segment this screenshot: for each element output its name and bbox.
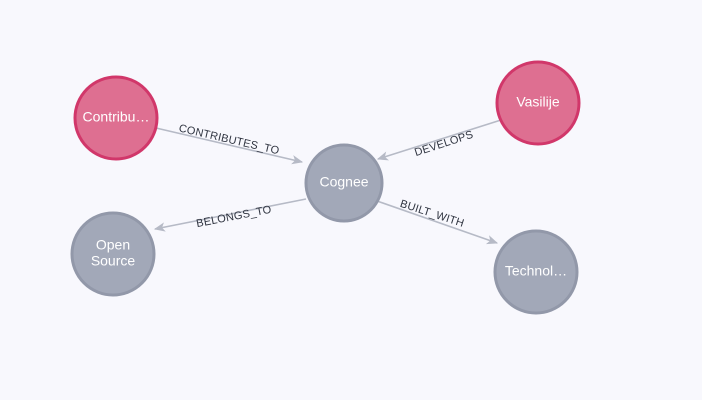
edge-label-built-with: BUILT_WITH: [399, 198, 466, 230]
edge-label-contributes-to: CONTRIBUTES_TO: [178, 122, 281, 157]
node-vasilije[interactable]: Vasilije: [497, 62, 579, 144]
node-contributor[interactable]: Contribu…: [75, 77, 157, 159]
edge-label-develops: DEVELOPS: [413, 129, 475, 159]
node-cognee[interactable]: Cognee: [306, 145, 382, 221]
node-circle-technology[interactable]: [495, 231, 577, 313]
edge-built-with[interactable]: [377, 201, 497, 243]
node-circle-contributor[interactable]: [75, 77, 157, 159]
node-open-source[interactable]: OpenSource: [72, 213, 154, 295]
nodes-layer: Contribu…VasilijeCogneeOpenSourceTechnol…: [72, 62, 579, 313]
edge-label-belongs-to: BELONGS_TO: [195, 204, 273, 230]
graph-visualization[interactable]: Contribu…VasilijeCogneeOpenSourceTechnol…: [0, 0, 702, 400]
node-circle-vasilije[interactable]: [497, 62, 579, 144]
node-technology[interactable]: Technol…: [495, 231, 577, 313]
node-circle-open-source[interactable]: [72, 213, 154, 295]
graph-canvas[interactable]: Contribu…VasilijeCogneeOpenSourceTechnol…: [0, 0, 702, 400]
node-circle-cognee[interactable]: [306, 145, 382, 221]
